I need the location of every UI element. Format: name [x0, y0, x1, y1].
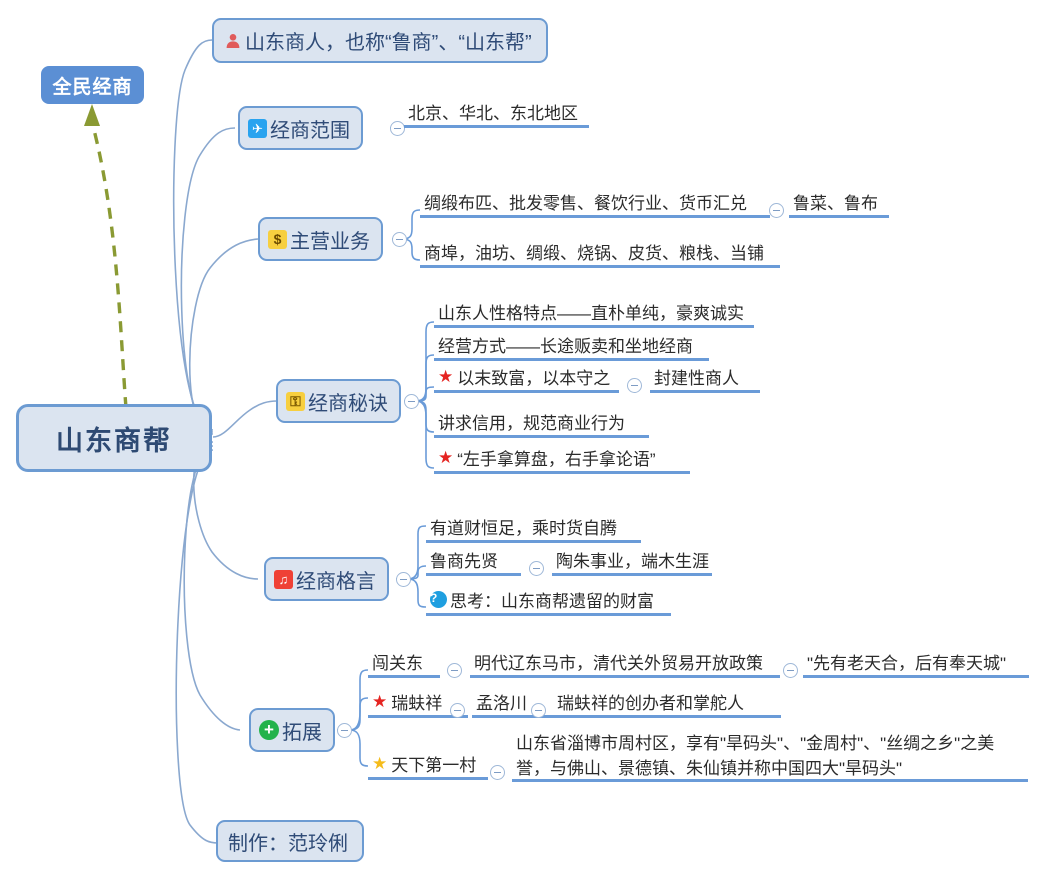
person-icon	[224, 32, 241, 50]
callout-national-commerce[interactable]: 全民经商	[41, 66, 144, 104]
leaf-motto-3[interactable]: ? 思考：山东商帮遗留的财富	[426, 588, 671, 616]
leaf-label: 山东省淄博市周村区，享有"旱码头"、"金周村"、"丝绸之乡"之美誉，与佛山、景德…	[516, 732, 1024, 781]
node-label: 经商范围	[270, 114, 350, 143]
collapse-toggle-business-scope[interactable]	[390, 121, 405, 136]
leaf-label: 闯关东	[372, 649, 423, 674]
collapse-toggle-expansion-2-sub[interactable]	[531, 703, 546, 718]
leaf-expansion-1-sub2[interactable]: "先有老天合，后有奉天城"	[803, 650, 1029, 678]
node-main-business[interactable]: $ 主营业务	[258, 217, 383, 261]
dollar-icon: $	[268, 230, 287, 249]
node-shandong-merchants[interactable]: 山东商人，也称“鲁商”、“山东帮”	[212, 18, 548, 63]
leaf-expansion-3[interactable]: ★ 天下第一村	[368, 752, 488, 780]
node-label: 经商格言	[296, 565, 376, 594]
leaf-label: 鲁商先贤	[430, 547, 498, 572]
star-glyph: ★	[372, 693, 387, 710]
leaf-secret-4[interactable]: 讲求信用，规范商业行为	[434, 410, 649, 438]
leaf-motto-2[interactable]: 鲁商先贤	[426, 548, 521, 576]
music-note-icon: ♫	[274, 570, 293, 589]
collapse-toggle-expansion[interactable]	[337, 723, 352, 738]
plus-glyph: +	[264, 722, 274, 738]
central-topic-label: 山东商帮	[56, 419, 172, 458]
leaf-label: 封建性商人	[654, 364, 739, 389]
collapse-toggle-expansion-1[interactable]	[447, 663, 462, 678]
question-icon: ?	[430, 591, 447, 608]
star-glyph: ★	[438, 368, 453, 385]
leaf-label: 讲求信用，规范商业行为	[438, 409, 625, 434]
collapse-toggle-expansion-2[interactable]	[450, 703, 465, 718]
collapse-toggle-motto-2[interactable]	[529, 561, 544, 576]
star-icon: ★	[438, 368, 453, 385]
leaf-label: 商埠，油坊、绸缎、烧锅、皮货、粮栈、当铺	[424, 239, 764, 264]
collapse-toggle-business-secrets[interactable]	[404, 394, 419, 409]
node-expansion[interactable]: + 拓展	[249, 708, 335, 752]
leaf-expansion-1[interactable]: 闯关东	[368, 650, 440, 678]
leaf-label: 鲁菜、鲁布	[793, 189, 878, 214]
node-business-mottos[interactable]: ♫ 经商格言	[264, 557, 389, 601]
leaf-label: 经营方式——长途贩卖和坐地经商	[438, 332, 693, 357]
node-business-secrets[interactable]: ⚿ 经商秘诀	[276, 379, 401, 423]
star-icon: ★	[438, 449, 453, 466]
key-glyph: ⚿	[290, 394, 301, 408]
leaf-label: 山东人性格特点——直朴单纯，豪爽诚实	[438, 299, 744, 324]
leaf-secret-2[interactable]: 经营方式——长途贩卖和坐地经商	[434, 333, 709, 361]
leaf-motto-1[interactable]: 有道财恒足，乘时货自腾	[426, 515, 641, 543]
leaf-secret-3-sub[interactable]: 封建性商人	[650, 365, 760, 393]
leaf-label: 陶朱事业，端木生涯	[556, 547, 709, 572]
star-icon: ★	[372, 755, 387, 772]
leaf-label: 孟洛川	[476, 689, 527, 714]
leaf-label: "先有老天合，后有奉天城"	[807, 649, 1006, 674]
star-glyph: ★	[438, 449, 453, 466]
collapse-toggle-main-business-1[interactable]	[769, 203, 784, 218]
question-glyph: ?	[430, 591, 437, 605]
central-topic[interactable]: 山东商帮	[16, 404, 212, 472]
collapse-toggle-secret-3[interactable]	[627, 378, 642, 393]
leaf-label: 思考：山东商帮遗留的财富	[450, 587, 654, 612]
leaf-label: 天下第一村	[391, 751, 476, 776]
airplane-glyph: ✈	[252, 122, 263, 135]
collapse-toggle-expansion-1-sub[interactable]	[783, 663, 798, 678]
leaf-main-business-1[interactable]: 绸缎布匹、批发零售、餐饮行业、货币汇兑	[420, 190, 770, 218]
node-label: 山东商人，也称“鲁商”、“山东帮”	[245, 26, 532, 55]
leaf-scope-regions[interactable]: 北京、华北、东北地区	[404, 100, 589, 128]
node-credit[interactable]: 制作：范玲俐	[216, 820, 364, 862]
leaf-expansion-3-sub[interactable]: 山东省淄博市周村区，享有"旱码头"、"金周村"、"丝绸之乡"之美誉，与佛山、景德…	[512, 730, 1028, 782]
leaf-label: 瑞蚨祥	[391, 689, 442, 714]
collapse-toggle-main-business[interactable]	[392, 232, 407, 247]
music-glyph: ♫	[279, 573, 289, 586]
leaf-label: 有道财恒足，乘时货自腾	[430, 514, 617, 539]
collapse-toggle-business-mottos[interactable]	[396, 572, 411, 587]
leaf-motto-2-sub[interactable]: 陶朱事业，端木生涯	[552, 548, 712, 576]
mindmap-canvas: 全民经商 山东商帮 山东商人，也称“鲁商”、“山东帮” ✈ 经商范围 北京、华北…	[0, 0, 1039, 877]
node-label: 制作：范玲俐	[228, 827, 348, 856]
leaf-secret-5[interactable]: ★ “左手拿算盘，右手拿论语”	[434, 446, 690, 474]
dollar-glyph: $	[274, 232, 282, 246]
leaf-main-business-1-sub[interactable]: 鲁菜、鲁布	[789, 190, 889, 218]
leaf-main-business-2[interactable]: 商埠，油坊、绸缎、烧锅、皮货、粮栈、当铺	[420, 240, 780, 268]
airplane-icon: ✈	[248, 119, 267, 138]
node-label: 拓展	[282, 716, 322, 745]
leaf-expansion-2-sub2[interactable]: 瑞蚨祥的创办者和掌舵人	[553, 690, 781, 718]
node-business-scope[interactable]: ✈ 经商范围	[238, 106, 363, 150]
leaf-secret-3[interactable]: ★ 以末致富，以本守之	[434, 365, 619, 393]
callout-label: 全民经商	[52, 72, 132, 99]
star-icon: ★	[372, 693, 387, 710]
leaf-label: “左手拿算盘，右手拿论语”	[457, 445, 655, 470]
leaf-label: 明代辽东马市，清代关外贸易开放政策	[474, 649, 763, 674]
node-label: 经商秘诀	[308, 387, 388, 416]
star-glyph: ★	[372, 755, 387, 772]
leaf-expansion-1-sub[interactable]: 明代辽东马市，清代关外贸易开放政策	[470, 650, 780, 678]
node-label: 主营业务	[290, 225, 370, 254]
leaf-secret-1[interactable]: 山东人性格特点——直朴单纯，豪爽诚实	[434, 300, 754, 328]
leaf-label: 以末致富，以本守之	[457, 364, 610, 389]
key-icon: ⚿	[286, 392, 305, 411]
collapse-toggle-expansion-3[interactable]	[490, 765, 505, 780]
leaf-label: 北京、华北、东北地区	[408, 99, 578, 124]
leaf-label: 绸缎布匹、批发零售、餐饮行业、货币汇兑	[424, 189, 747, 214]
plus-circle-icon: +	[259, 720, 279, 740]
leaf-label: 瑞蚨祥的创办者和掌舵人	[557, 689, 744, 714]
